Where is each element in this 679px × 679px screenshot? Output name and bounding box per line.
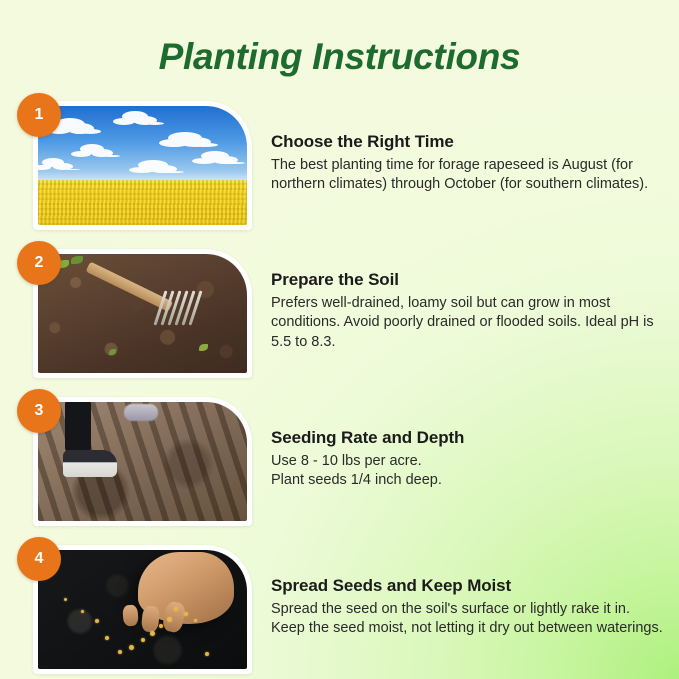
cloud-shape — [168, 132, 202, 144]
seed-dot — [150, 631, 155, 636]
finger-shape — [123, 604, 139, 626]
cloud-shape — [138, 160, 168, 170]
rake-head-shape — [159, 290, 205, 328]
list-item: 4 — [33, 536, 679, 674]
hand-dropping-seeds-photo — [38, 550, 247, 669]
seed-dot — [141, 638, 145, 642]
step-body: The best planting time for forage rapese… — [271, 156, 665, 195]
boot-foot-shape — [63, 450, 117, 477]
page-title: Planting Instructions — [159, 36, 521, 78]
step-heading: Choose the Right Time — [271, 132, 665, 152]
cloud-shape — [201, 151, 229, 161]
canola-field-under-blue-sky-photo — [38, 106, 247, 225]
step-text-1: Choose the Right Time The best planting … — [252, 128, 679, 195]
soil-texture — [38, 254, 247, 373]
seed-dot — [105, 636, 109, 640]
step-media-1: 1 — [33, 101, 252, 230]
list-item: 2 Prepare the Soil Prefers well- — [33, 240, 679, 378]
photo-frame — [33, 397, 252, 526]
boot-leg-shape — [65, 402, 91, 452]
cloud-shape — [42, 158, 64, 167]
cloud-shape — [122, 111, 148, 122]
second-boot-shape — [124, 404, 158, 421]
step-media-2: 2 — [33, 249, 252, 378]
list-item: 1 Choose the Right Time The best plantin… — [33, 92, 679, 230]
list-item: 3 Seeding Rate and Depth Use 8 - 10 lbs … — [33, 388, 679, 526]
step-media-4: 4 — [33, 545, 252, 674]
photo-frame — [33, 545, 252, 674]
step-heading: Spread Seeds and Keep Moist — [271, 576, 665, 596]
step-number-badge: 4 — [17, 537, 61, 581]
seed-dot — [167, 617, 172, 622]
step-number-badge: 3 — [17, 389, 61, 433]
step-text-4: Spread Seeds and Keep Moist Spread the s… — [252, 572, 679, 639]
rake-on-brown-soil-photo — [38, 254, 247, 373]
step-body: Use 8 - 10 lbs per acre. Plant seeds 1/4… — [271, 452, 665, 491]
seed-dot — [118, 650, 122, 654]
seed-dot — [81, 610, 84, 613]
step-heading: Seeding Rate and Depth — [271, 428, 665, 448]
step-number-badge: 1 — [17, 93, 61, 137]
photo-frame — [33, 101, 252, 230]
step-text-2: Prepare the Soil Prefers well-drained, l… — [252, 266, 679, 352]
boots-on-furrowed-field-photo — [38, 402, 247, 521]
step-media-3: 3 — [33, 397, 252, 526]
step-body: Spread the seed on the soil's surface or… — [271, 600, 665, 639]
step-number-badge: 2 — [17, 241, 61, 285]
step-heading: Prepare the Soil — [271, 270, 665, 290]
step-body: Prefers well-drained, loamy soil but can… — [271, 294, 665, 352]
steps-list: 1 Choose the Right Time The best plantin… — [0, 92, 679, 674]
cloud-shape — [80, 144, 104, 154]
seed-dot — [194, 619, 197, 622]
seed-dot — [64, 598, 67, 601]
field-texture — [38, 180, 247, 225]
photo-frame — [33, 249, 252, 378]
step-text-3: Seeding Rate and Depth Use 8 - 10 lbs pe… — [252, 424, 679, 491]
seed-dot — [95, 619, 99, 623]
page-title-container: Planting Instructions — [0, 0, 679, 92]
